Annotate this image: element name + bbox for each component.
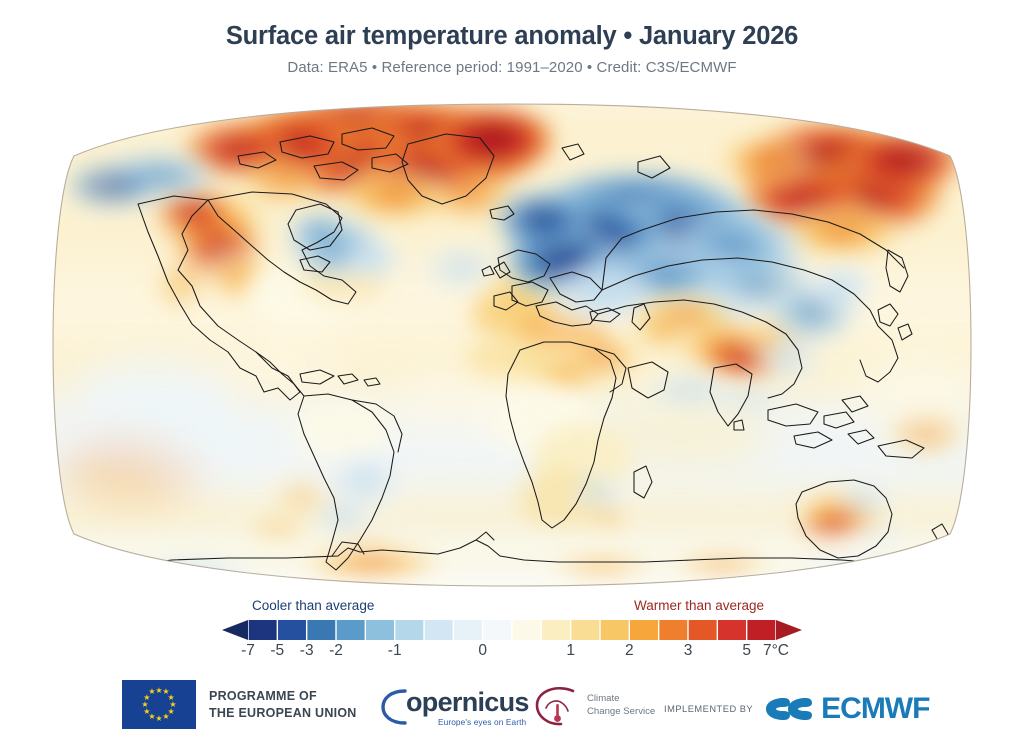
c3s-logo-text: Climate Change Service (587, 692, 655, 718)
world-anomaly-map (42, 100, 982, 590)
colorbar-tick-label: 3 (684, 642, 693, 660)
colorbar-tick-label: -7 (241, 642, 255, 660)
copernicus-wordmark: opernicus (406, 687, 529, 718)
colorbar-tick-labels: -7-5-3-2-1012357°C (222, 642, 802, 666)
colorbar-segment (747, 620, 775, 640)
eu-flag-star-icon: ★ (143, 708, 150, 716)
colorbar-segment (278, 620, 306, 640)
colorbar-tick-label: -3 (300, 642, 314, 660)
colorbar-tick-label: 1 (566, 642, 575, 660)
page-title: Surface air temperature anomaly • Januar… (0, 22, 1024, 50)
anomaly-field (42, 100, 982, 590)
map-canvas (42, 100, 982, 590)
colorbar-segment (659, 620, 687, 640)
colorbar-tick-label: -1 (388, 642, 402, 660)
colorbar-cool-label: Cooler than average (252, 598, 374, 613)
colorbar-segment (689, 620, 717, 640)
copernicus-c-icon (378, 686, 408, 728)
eu-logo-line2: THE EUROPEAN UNION (209, 705, 357, 722)
colorbar-segment (630, 620, 658, 640)
colorbar-segment (483, 620, 511, 640)
colorbar-tick-label: -5 (270, 642, 284, 660)
colorbar-segment (513, 620, 541, 640)
colorbar-low-extend-arrow (222, 620, 248, 640)
colorbar-segment (542, 620, 570, 640)
c3s-logo: Climate Change Service (533, 684, 655, 726)
colorbar: Cooler than average Warmer than average … (0, 598, 1024, 673)
colorbar-segment (395, 620, 423, 640)
colorbar-segment (601, 620, 629, 640)
colorbar-tick-label: 0 (478, 642, 487, 660)
colorbar-tick-label: 5 (742, 642, 751, 660)
colorbar-segment (454, 620, 482, 640)
colorbar-swatches (222, 620, 802, 640)
chart-header: Surface air temperature anomaly • Januar… (0, 22, 1024, 76)
footer-logos: ★★★★★★★★★★★★ PROGRAMME OF THE EUROPEAN U… (0, 676, 1024, 742)
ecmwf-logo: IMPLEMENTED BY ECMWF (664, 692, 929, 726)
colorbar-segment (307, 620, 335, 640)
eu-flag-star-icon: ★ (141, 701, 148, 709)
colorbar-segment (366, 620, 394, 640)
eu-flag-star-icon: ★ (162, 713, 169, 721)
eu-flag-star-icon: ★ (148, 688, 155, 696)
eu-flag-icon: ★★★★★★★★★★★★ (122, 680, 196, 729)
eu-flag-star-icon: ★ (155, 715, 162, 723)
colorbar-segment (571, 620, 599, 640)
page-subtitle: Data: ERA5 • Reference period: 1991–2020… (0, 59, 1024, 76)
eu-logo-text: PROGRAMME OF THE EUROPEAN UNION (209, 688, 357, 721)
c3s-line1: Climate (587, 692, 655, 705)
colorbar-tick-label: -2 (329, 642, 343, 660)
colorbar-segment (718, 620, 746, 640)
colorbar-segment (337, 620, 365, 640)
implemented-by-label: IMPLEMENTED BY (664, 704, 753, 714)
colorbar-segment (249, 620, 277, 640)
colorbar-high-extend-arrow (776, 620, 802, 640)
colorbar-segment (425, 620, 453, 640)
colorbar-segment-group (222, 620, 802, 640)
colorbar-scale (222, 620, 802, 640)
colorbar-tick-label: 7°C (763, 642, 789, 660)
ecmwf-wordmark: ECMWF (821, 692, 929, 726)
colorbar-tick-label: 2 (625, 642, 634, 660)
ecmwf-mark-icon (762, 694, 816, 724)
eu-logo: ★★★★★★★★★★★★ PROGRAMME OF THE EUROPEAN U… (122, 680, 357, 729)
colorbar-warm-label: Warmer than average (634, 598, 764, 613)
copernicus-tagline: Europe's eyes on Earth (438, 717, 526, 727)
eu-logo-line1: PROGRAMME OF (209, 688, 357, 705)
climate-change-service-icon (533, 684, 579, 726)
c3s-line2: Change Service (587, 705, 655, 718)
